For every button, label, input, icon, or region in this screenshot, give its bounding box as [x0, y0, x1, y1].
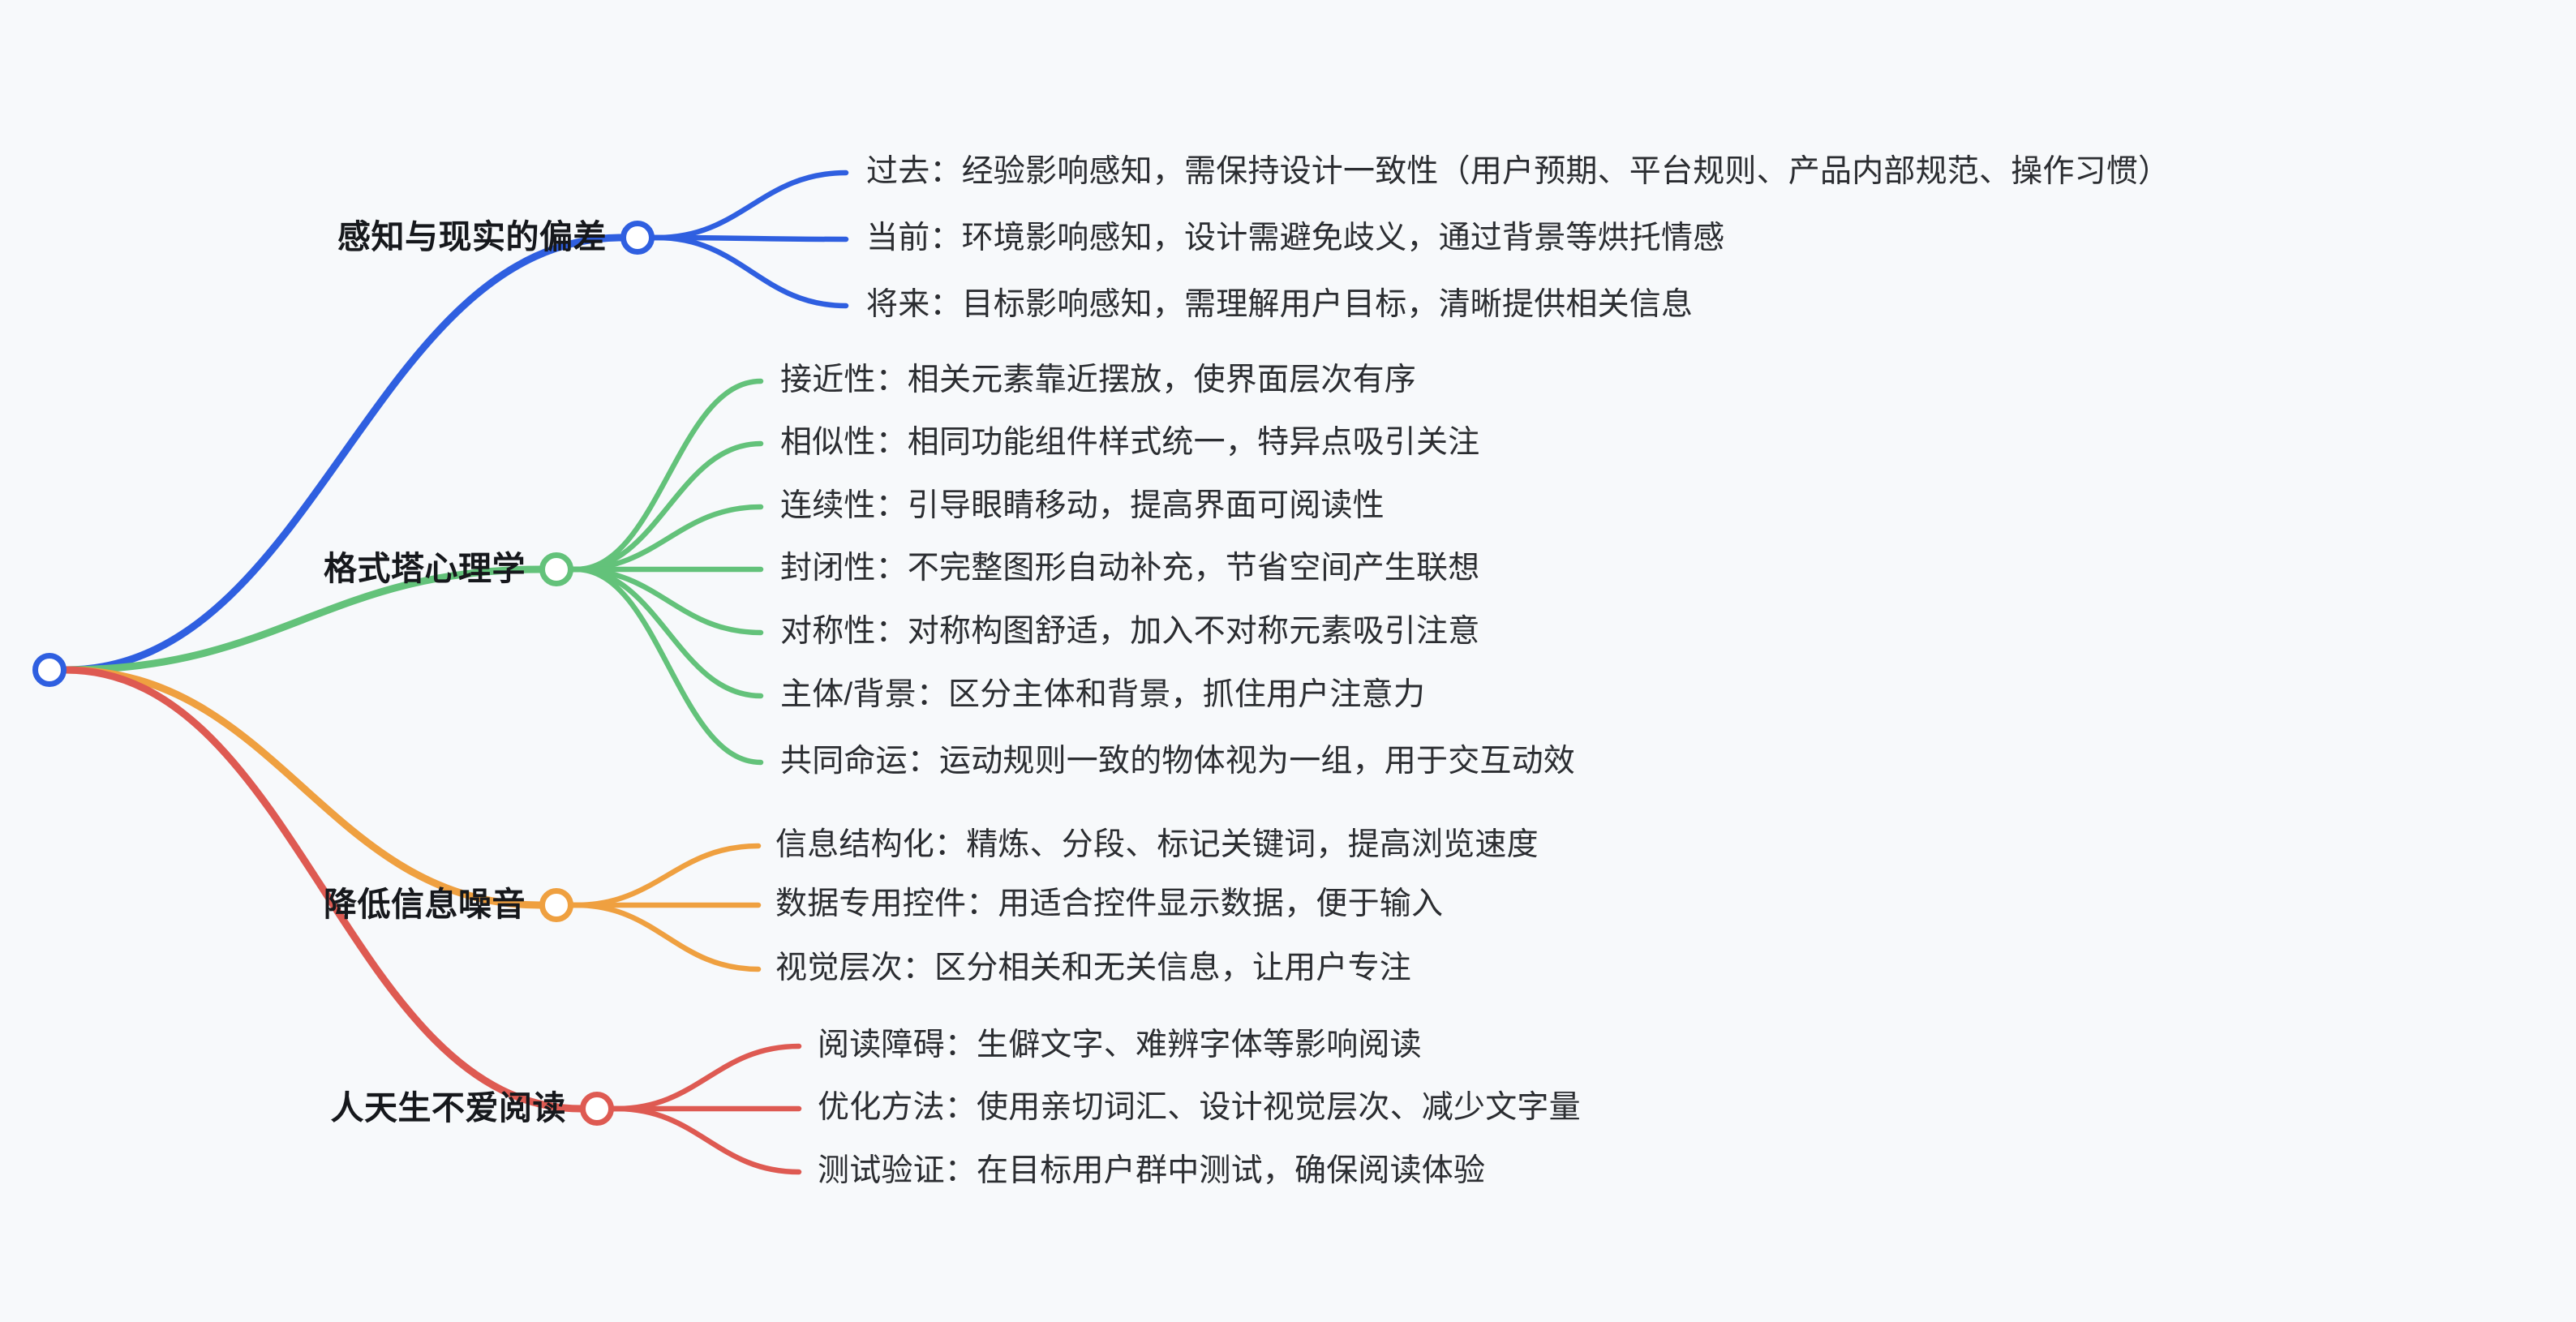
branch-label-gestalt-psychology[interactable]: 格式塔心理学 [0, 552, 526, 586]
mindmap-edge [571, 569, 761, 633]
mindmap-edge [571, 444, 761, 569]
leaf-label-reduce-info-noise-1[interactable]: 数据专用控件：用适合控件显示数据，便于输入 [775, 888, 1443, 920]
mindmap-canvas: 感知与现实的偏差过去：经验影响感知，需保持设计一致性（用户预期、平台规则、产品内… [0, 0, 2576, 1322]
leaf-label-reduce-info-noise-2[interactable]: 视觉层次：区分相关和无关信息，让用户专注 [775, 952, 1411, 984]
branch-node-perception-gap[interactable] [620, 221, 655, 255]
branch-node-gestalt-psychology[interactable] [539, 552, 573, 586]
mindmap-edge [66, 238, 621, 670]
edge-layer [66, 173, 846, 1172]
leaf-label-gestalt-psychology-1[interactable]: 相似性：相同功能组件样式统一，特异点吸引关注 [780, 427, 1479, 458]
mindmap-edge [66, 670, 540, 905]
mindmap-edge [571, 569, 761, 762]
leaf-label-people-dislike-reading-0[interactable]: 阅读障碍：生僻文字、难辨字体等影响阅读 [818, 1029, 1422, 1061]
leaf-label-gestalt-psychology-2[interactable]: 连续性：引导眼睛移动，提高界面可阅读性 [780, 490, 1385, 522]
leaf-label-perception-gap-1[interactable]: 当前：环境影响感知，设计需避免歧义，通过背景等烘托情感 [866, 222, 1724, 254]
leaf-label-gestalt-psychology-5[interactable]: 主体/背景：区分主体和背景，抓住用户注意力 [780, 679, 1425, 710]
mindmap-edge [612, 1109, 799, 1172]
mindmap-edge [571, 846, 758, 905]
leaf-label-people-dislike-reading-2[interactable]: 测试验证：在目标用户群中测试，确保阅读体验 [818, 1155, 1485, 1187]
leaf-label-gestalt-psychology-3[interactable]: 封闭性：不完整图形自动补充，节省空间产生联想 [780, 552, 1479, 584]
mindmap-edge [652, 238, 846, 306]
leaf-label-perception-gap-2[interactable]: 将来：目标影响感知，需理解用户目标，清晰提供相关信息 [866, 289, 1693, 320]
mindmap-edge [571, 507, 761, 569]
branch-label-perception-gap[interactable]: 感知与现实的偏差 [0, 221, 607, 254]
leaf-label-gestalt-psychology-6[interactable]: 共同命运：运动规则一致的物体视为一组，用于交互动效 [780, 745, 1575, 777]
leaf-label-people-dislike-reading-1[interactable]: 优化方法：使用亲切词汇、设计视觉层次、减少文字量 [818, 1092, 1581, 1123]
branch-node-people-dislike-reading[interactable] [580, 1092, 614, 1126]
leaf-label-gestalt-psychology-0[interactable]: 接近性：相关元素靠近摆放，使界面层次有序 [780, 364, 1416, 396]
mindmap-edge [612, 1046, 799, 1109]
leaf-label-gestalt-psychology-4[interactable]: 对称性：对称构图舒适，加入不对称元素吸引注意 [780, 616, 1479, 647]
mindmap-edge [652, 238, 846, 239]
branch-node-reduce-info-noise[interactable] [539, 888, 573, 922]
branch-label-people-dislike-reading[interactable]: 人天生不爱阅读 [0, 1092, 566, 1125]
root-node[interactable] [32, 653, 67, 687]
mindmap-edge [652, 173, 846, 238]
mindmap-edge [571, 569, 761, 696]
mindmap-edge [571, 381, 761, 569]
leaf-label-reduce-info-noise-0[interactable]: 信息结构化：精炼、分段、标记关键词，提高浏览速度 [775, 829, 1539, 861]
branch-label-reduce-info-noise[interactable]: 降低信息噪音 [0, 888, 526, 921]
mindmap-edge [571, 905, 758, 969]
leaf-label-perception-gap-0[interactable]: 过去：经验影响感知，需保持设计一致性（用户预期、平台规则、产品内部规范、操作习惯… [866, 156, 2170, 187]
